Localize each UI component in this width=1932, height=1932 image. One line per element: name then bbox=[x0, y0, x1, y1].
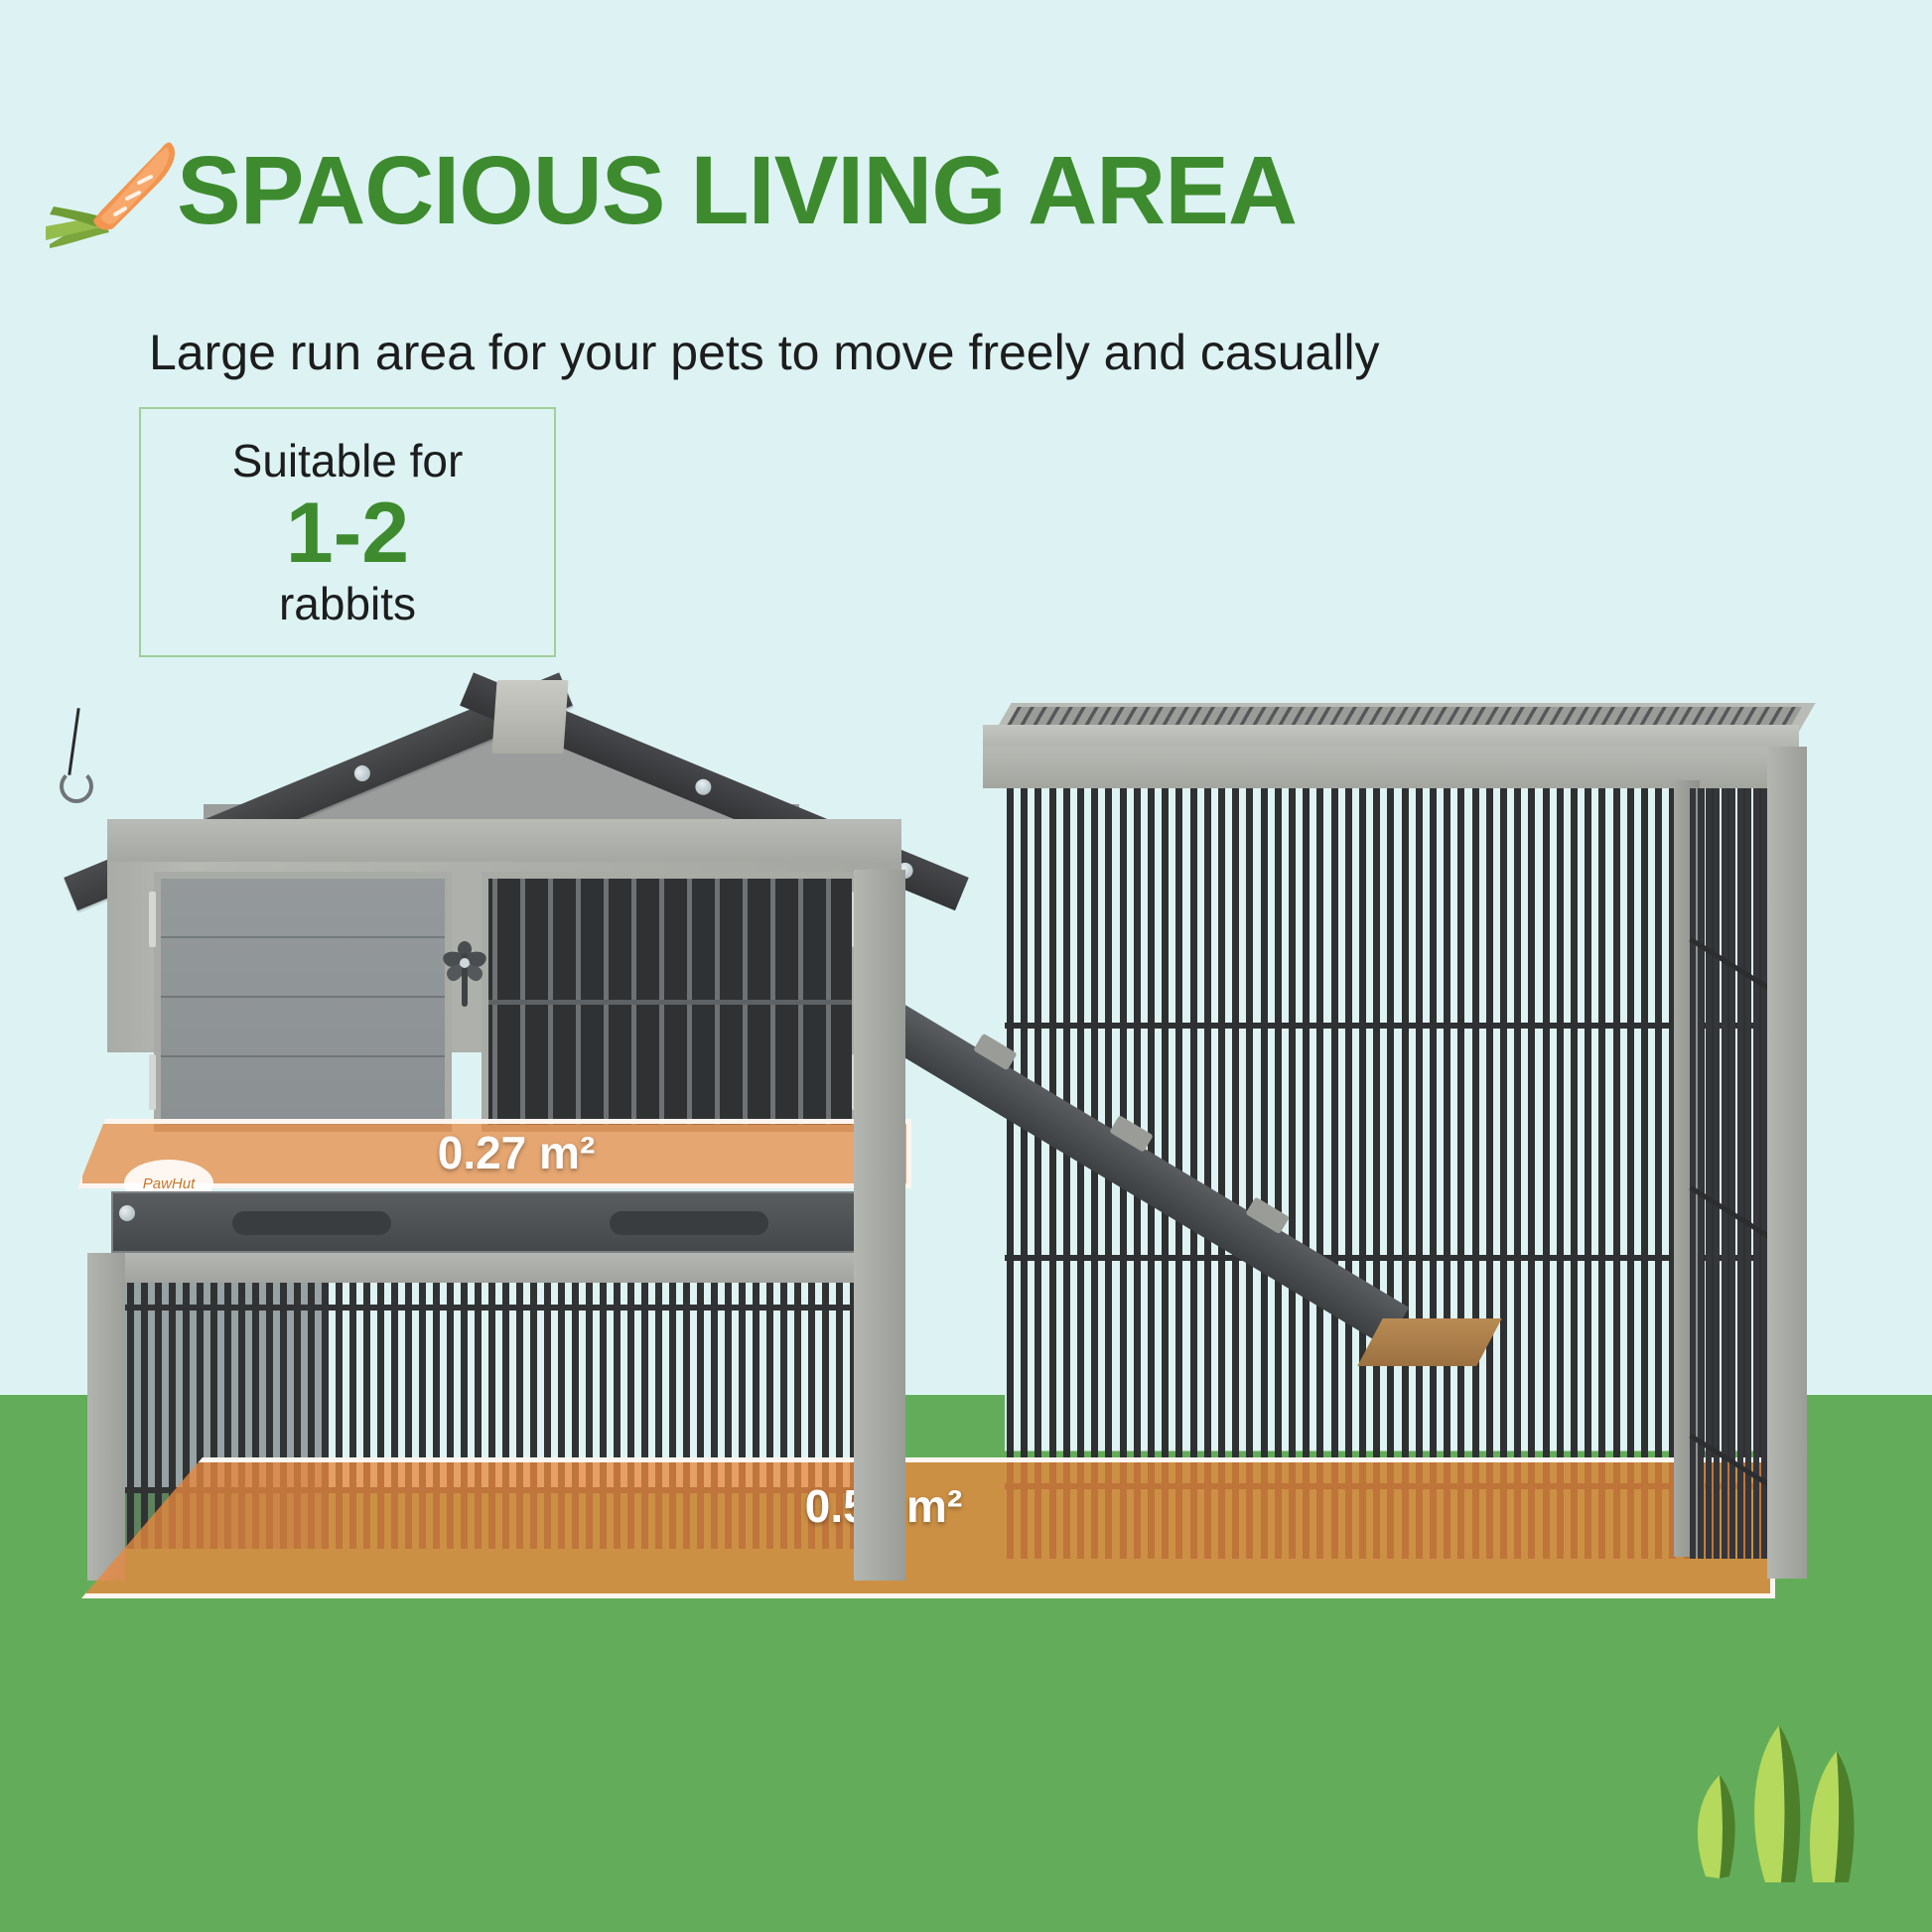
ramp-foot bbox=[1357, 1318, 1502, 1366]
infographic-canvas: SPACIOUS LIVING AREA Large run area for … bbox=[0, 0, 1932, 1932]
grass-tuft-decoration bbox=[1648, 1718, 1876, 1906]
hook-wire bbox=[68, 708, 79, 775]
capacity-count: 1-2 bbox=[286, 487, 409, 580]
latch-hook-icon[interactable] bbox=[60, 769, 93, 803]
page-subtitle: Large run area for your pets to move fre… bbox=[149, 324, 1380, 381]
hutch-center-post bbox=[854, 870, 905, 1581]
run-right-corner-post bbox=[1767, 747, 1807, 1579]
page-title: SPACIOUS LIVING AREA bbox=[177, 139, 1297, 243]
hutch-left-leg bbox=[87, 1253, 125, 1581]
tray-handle-right[interactable] bbox=[610, 1211, 768, 1235]
upper-area-label: 0.27 m² bbox=[357, 1126, 675, 1179]
hutch-mesh-door[interactable] bbox=[482, 872, 859, 1132]
capacity-line-2: rabbits bbox=[279, 581, 416, 626]
capacity-line-1: Suitable for bbox=[232, 438, 464, 483]
pull-out-tray[interactable] bbox=[111, 1191, 896, 1253]
product-illustration: 0.27 m² PawHut 0.58 m² bbox=[0, 685, 1932, 1598]
dragonfly-latch-icon[interactable] bbox=[435, 933, 494, 1011]
hutch-top-rail bbox=[107, 819, 901, 862]
hutch-wood-door[interactable] bbox=[154, 872, 452, 1132]
carrot-icon bbox=[44, 137, 179, 252]
tray-handle-left[interactable] bbox=[232, 1211, 391, 1235]
roof-ridge-cap bbox=[491, 680, 568, 754]
under-tray-rail bbox=[87, 1253, 905, 1283]
capacity-box: Suitable for 1-2 rabbits bbox=[139, 407, 556, 657]
